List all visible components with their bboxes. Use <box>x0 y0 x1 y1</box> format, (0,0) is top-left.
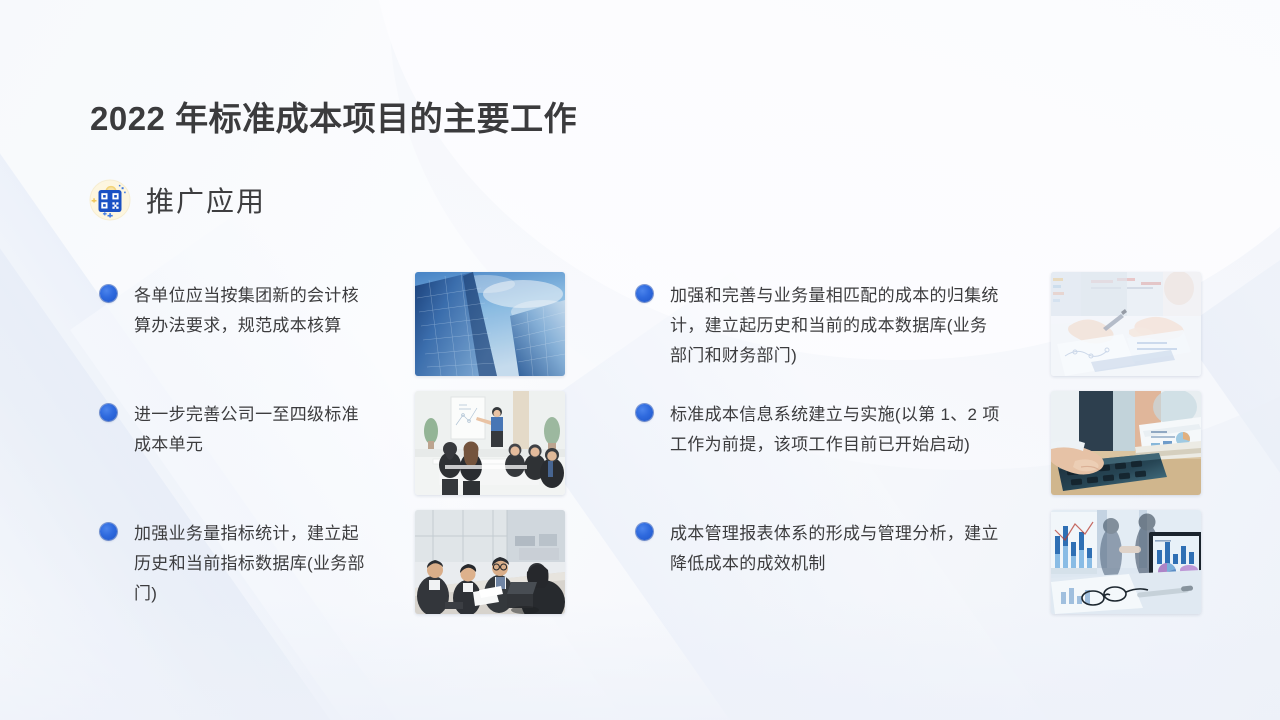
charts-handshake-photo <box>1051 510 1201 614</box>
bullet-block: 加强和完善与业务量相匹配的成本的归集统计，建立起历史和当前的成本数据库(业务部门… <box>636 272 1041 371</box>
bullet-block: 进一步完善公司一至四级标准成本单元 <box>100 391 408 460</box>
blue-dot-icon <box>100 523 117 540</box>
bullet-text: 成本管理报表体系的形成与管理分析，建立降低成本的成效机制 <box>670 519 1000 579</box>
conference-meeting-photo <box>415 510 565 614</box>
bullet-block: 成本管理报表体系的形成与管理分析，建立降低成本的成效机制 <box>636 510 1041 579</box>
list-item: 进一步完善公司一至四级标准成本单元 <box>100 391 565 510</box>
blue-dot-icon <box>100 404 117 421</box>
list-item: 标准成本信息系统建立与实施(以第 1、2 项工作为前提，该项工作目前已开始启动) <box>636 391 1201 510</box>
bullet-text: 进一步完善公司一至四级标准成本单元 <box>134 400 366 460</box>
qr-scan-coin-icon: B <box>88 178 132 222</box>
section-heading: B <box>88 178 266 222</box>
list-item: 各单位应当按集团新的会计核算办法要求，规范成本核算 <box>100 272 565 391</box>
documents-review-photo <box>1051 272 1201 376</box>
bullet-text: 各单位应当按集团新的会计核算办法要求，规范成本核算 <box>134 281 366 341</box>
slide-title: 2022 年标准成本项目的主要工作 <box>90 92 577 140</box>
blue-dot-icon <box>636 523 653 540</box>
blue-dot-icon <box>636 285 653 302</box>
list-item: 成本管理报表体系的形成与管理分析，建立降低成本的成效机制 <box>636 510 1201 629</box>
list-item: 加强业务量指标统计，建立起历史和当前指标数据库(业务部门) <box>100 510 565 629</box>
bullet-block: 标准成本信息系统建立与实施(以第 1、2 项工作为前提，该项工作目前已开始启动) <box>636 391 1041 460</box>
bullet-text: 加强业务量指标统计，建立起历史和当前指标数据库(业务部门) <box>134 519 366 609</box>
right-column: 加强和完善与业务量相匹配的成本的归集统计，建立起历史和当前的成本数据库(业务部门… <box>636 272 1201 629</box>
training-presentation-photo <box>415 391 565 495</box>
left-column: 各单位应当按集团新的会计核算办法要求，规范成本核算 <box>100 272 565 629</box>
blue-dot-icon <box>100 285 117 302</box>
bullet-block: 加强业务量指标统计，建立起历史和当前指标数据库(业务部门) <box>100 510 408 609</box>
bullet-text: 加强和完善与业务量相匹配的成本的归集统计，建立起历史和当前的成本数据库(业务部门… <box>670 281 1000 371</box>
bullet-block: 各单位应当按集团新的会计核算办法要求，规范成本核算 <box>100 272 408 341</box>
bullet-text: 标准成本信息系统建立与实施(以第 1、2 项工作为前提，该项工作目前已开始启动) <box>670 400 1000 460</box>
section-heading-label: 推广应用 <box>146 180 266 220</box>
skyscrapers-photo <box>415 272 565 376</box>
calculator-accounting-photo <box>1051 391 1201 495</box>
blue-dot-icon <box>636 404 653 421</box>
list-item: 加强和完善与业务量相匹配的成本的归集统计，建立起历史和当前的成本数据库(业务部门… <box>636 272 1201 391</box>
presentation-slide: 2022 年标准成本项目的主要工作 B <box>0 0 1280 720</box>
